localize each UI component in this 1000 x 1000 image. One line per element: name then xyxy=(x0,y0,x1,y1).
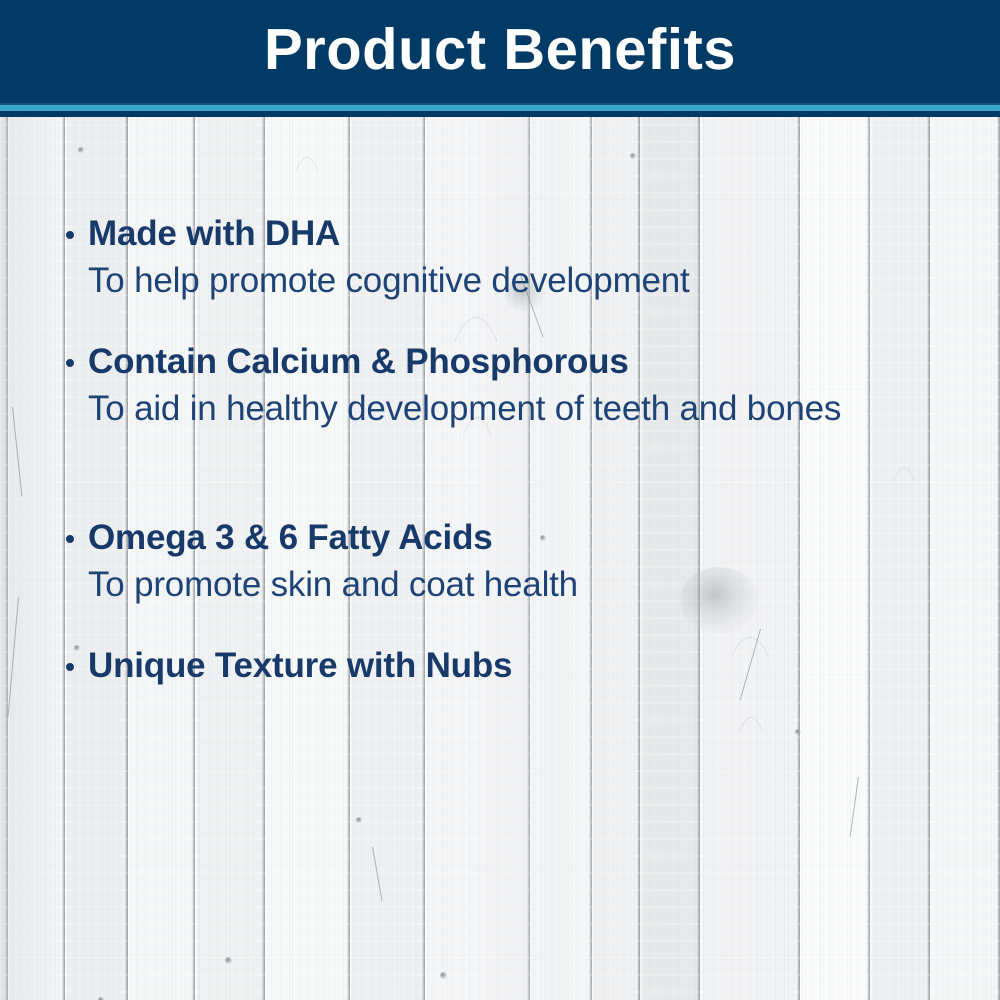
benefit-heading: Unique Texture with Nubs xyxy=(62,643,942,689)
benefits-list: Made with DHA To help promote cognitive … xyxy=(0,117,1000,1000)
page-title: Product Benefits xyxy=(0,0,1000,103)
header-banner: Product Benefits xyxy=(0,0,1000,103)
bullet-point-icon xyxy=(66,535,74,543)
benefit-description: To promote skin and coat health xyxy=(62,561,898,609)
benefit-description: To aid in healthy development of teeth a… xyxy=(62,385,898,433)
benefit-heading-label: Unique Texture with Nubs xyxy=(88,646,512,685)
benefit-heading-label: Contain Calcium & Phosphorous xyxy=(88,342,629,381)
benefit-heading: Contain Calcium & Phosphorous xyxy=(62,339,942,385)
benefit-item: Unique Texture with Nubs xyxy=(62,643,942,689)
benefit-heading-label: Made with DHA xyxy=(88,214,340,253)
benefit-heading-label: Omega 3 & 6 Fatty Acids xyxy=(88,518,493,557)
bullet-point-icon xyxy=(66,663,74,671)
benefit-heading: Made with DHA xyxy=(62,211,942,257)
benefit-description: To help promote cognitive development xyxy=(62,257,898,305)
bullet-point-icon xyxy=(66,359,74,367)
product-benefits-panel: Product Benefits xyxy=(0,0,1000,1000)
benefit-heading: Omega 3 & 6 Fatty Acids xyxy=(62,515,942,561)
benefit-item: Made with DHA To help promote cognitive … xyxy=(62,211,942,305)
bullet-point-icon xyxy=(66,231,74,239)
benefit-item: Omega 3 & 6 Fatty Acids To promote skin … xyxy=(62,515,942,609)
benefit-item: Contain Calcium & Phosphorous To aid in … xyxy=(62,339,942,433)
